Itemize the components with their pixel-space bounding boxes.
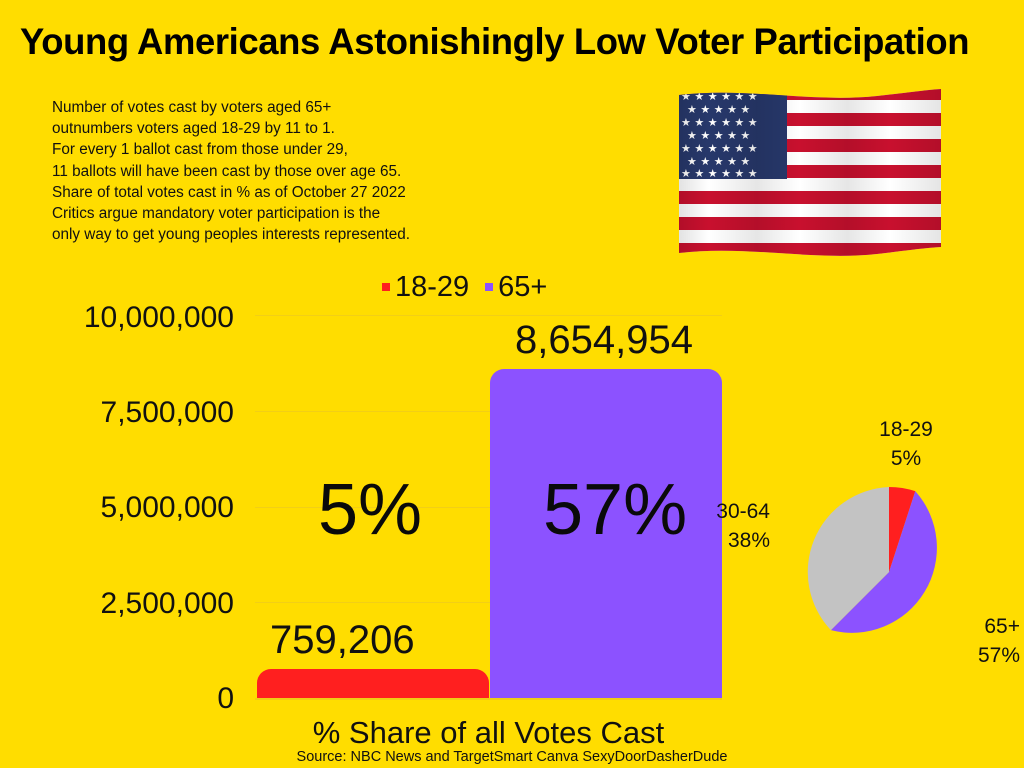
pie-label-65-plus-name: 65+ <box>900 612 1020 641</box>
pie-label-65-plus: 65+ 57% <box>900 612 1020 670</box>
y-tick-label-7500000: 7,500,000 <box>2 398 234 428</box>
x-axis-title: % Share of all Votes Cast <box>255 715 722 751</box>
bar-chart: 10,000,000 7,500,000 5,000,000 2,500,000… <box>0 300 760 720</box>
page-title: Young Americans Astonishingly Low Voter … <box>20 20 995 64</box>
bar-18-29[interactable] <box>257 669 489 698</box>
legend-item-65-plus[interactable]: 65+ <box>485 272 547 302</box>
pie-label-30-64-name: 30-64 <box>650 497 770 526</box>
bar-value-label-65-plus: 8,654,954 <box>515 318 693 362</box>
pie-label-18-29-value: 5% <box>808 444 1004 473</box>
infographic-canvas: Young Americans Astonishingly Low Voter … <box>0 0 1024 768</box>
pie-label-30-64: 30-64 38% <box>650 497 770 555</box>
legend-item-18-29[interactable]: 18-29 <box>382 272 469 302</box>
axis-baseline <box>255 698 722 700</box>
y-tick-label-0: 0 <box>2 684 234 714</box>
legend-swatch-icon-18-29 <box>382 283 390 291</box>
intro-line-6: Critics argue mandatory voter participat… <box>52 203 672 224</box>
legend-swatch-icon-65-plus <box>485 283 493 291</box>
pie-label-18-29: 18-29 5% <box>808 415 1004 473</box>
y-axis: 10,000,000 7,500,000 5,000,000 2,500,000… <box>0 300 240 720</box>
intro-line-3: For every 1 ballot cast from those under… <box>52 139 672 160</box>
pie-label-18-29-name: 18-29 <box>808 415 1004 444</box>
intro-line-7: only way to get young peoples interests … <box>52 224 672 245</box>
intro-line-4: 11 ballots will have been cast by those … <box>52 161 672 182</box>
y-tick-label-5000000: 5,000,000 <box>2 493 234 523</box>
intro-line-2: outnumbers voters aged 18-29 by 11 to 1. <box>52 118 672 139</box>
bar-value-label-18-29: 759,206 <box>270 618 415 662</box>
pie-label-30-64-value: 38% <box>650 526 770 555</box>
pie-label-65-plus-value: 57% <box>900 641 1020 670</box>
gridline-10000000 <box>255 315 722 316</box>
intro-paragraph: Number of votes cast by voters aged 65+ … <box>52 97 672 245</box>
y-tick-label-2500000: 2,500,000 <box>2 589 234 619</box>
y-tick-label-10000000: 10,000,000 <box>2 303 234 333</box>
intro-line-1: Number of votes cast by voters aged 65+ <box>52 97 672 118</box>
legend-label-65-plus: 65+ <box>498 272 547 302</box>
chart-legend: 18-29 65+ <box>382 270 547 304</box>
legend-label-18-29: 18-29 <box>395 272 469 302</box>
bar-percent-label-18-29: 5% <box>318 472 422 548</box>
intro-line-5: Share of total votes cast in % as of Oct… <box>52 182 672 203</box>
united-states-flag-icon: ★ ★ ★ ★ ★ ★ ★ ★ ★ ★ ★ ★ ★ ★ ★ ★ ★ ★ ★ ★ … <box>677 87 943 257</box>
source-credit: Source: NBC News and TargetSmart Canva S… <box>0 749 1024 766</box>
